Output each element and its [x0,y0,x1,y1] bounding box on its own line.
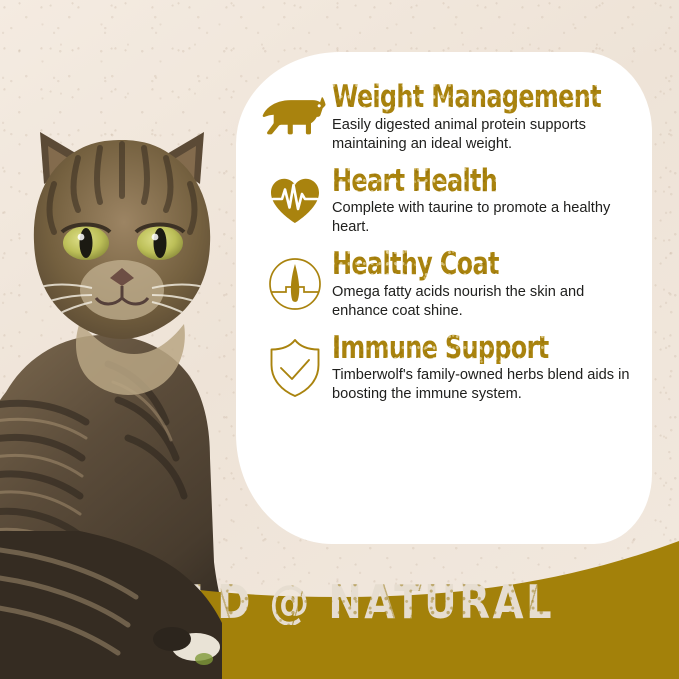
hair-follicle-icon [258,255,332,313]
product-feature-graphic: Weight Management Easily digested animal… [0,0,679,679]
benefits-card: Weight Management Easily digested animal… [236,52,652,544]
cat-paw-overlap [0,531,230,679]
benefit-description: Easily digested animal protein supports … [332,116,644,154]
benefit-row: Heart Health Complete with taurine to pr… [258,166,652,238]
benefit-description: Complete with taurine to promote a healt… [332,199,644,237]
heart-ekg-icon [258,172,332,230]
benefit-row: Weight Management Easily digested animal… [258,82,652,154]
benefit-row: Healthy Coat Omega fatty acids nourish t… [258,249,652,321]
benefit-row: Immune Support Timberwolf's family-owned… [258,333,652,405]
benefit-description: Timberwolf's family-owned herbs blend ai… [332,366,644,404]
benefit-title: Weight Management [332,82,607,114]
walking-cat-icon [258,88,332,146]
brand-banner: WILD @ NATURAL [0,531,679,679]
benefit-title: Healthy Coat [332,249,607,281]
benefit-title: Heart Health [332,166,607,198]
benefit-title: Immune Support [332,333,607,365]
benefit-description: Omega fatty acids nourish the skin and e… [332,283,644,321]
shield-check-icon [258,339,332,397]
